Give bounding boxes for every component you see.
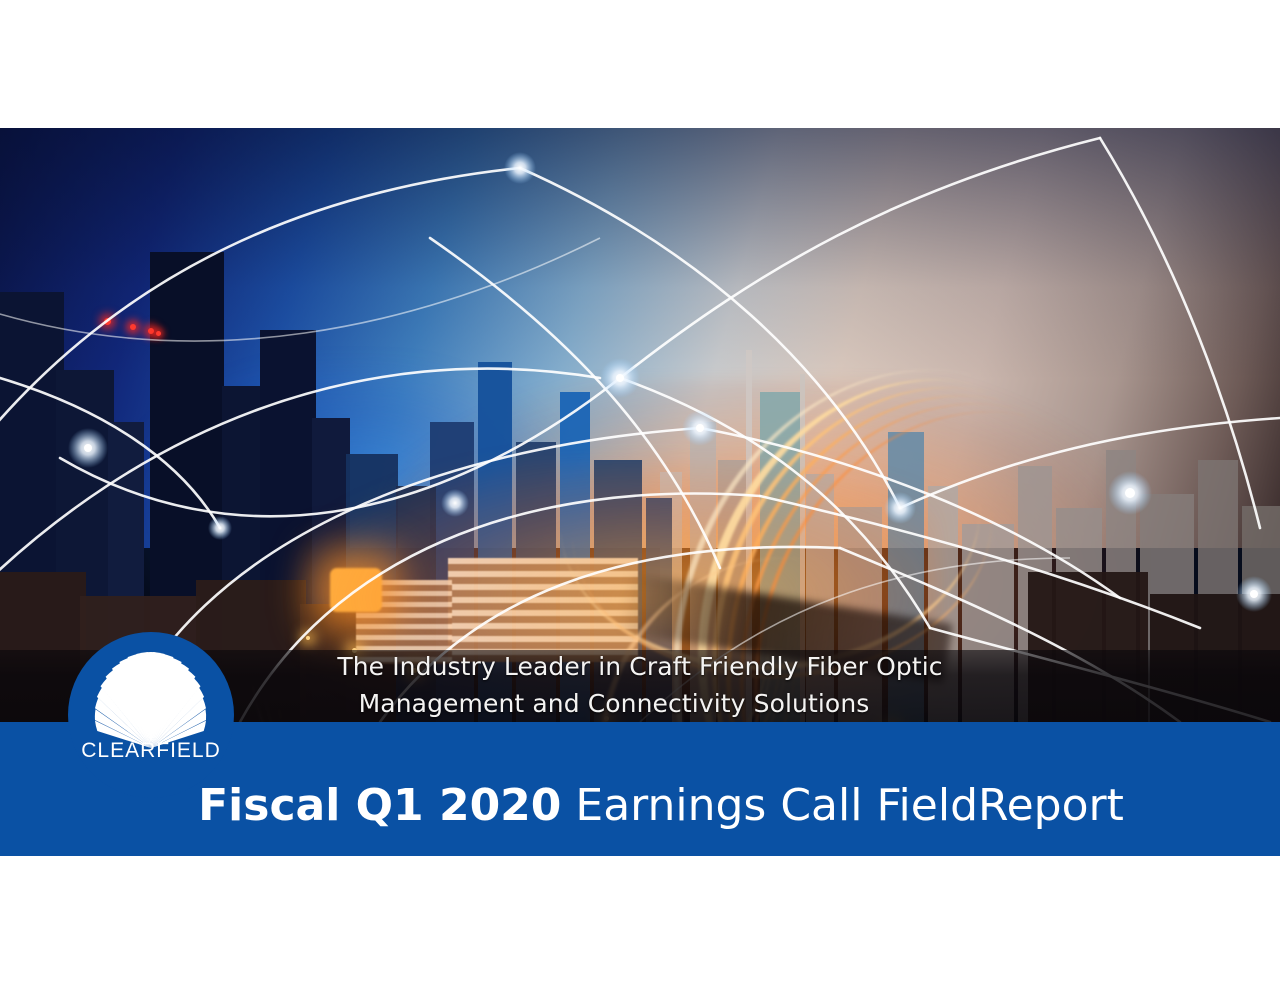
tagline-line-1: The Industry Leader in Craft Friendly Fi… xyxy=(337,648,942,685)
page-title-emphasis: Fiscal Q1 2020 xyxy=(198,780,561,831)
clearfield-fan-shell-icon xyxy=(92,644,210,748)
logo-wordmark: CLEARFIELD xyxy=(68,739,234,763)
page-title-rest: Earnings Call FieldReport xyxy=(561,780,1123,831)
clearfield-logo: CLEARFIELD xyxy=(68,632,234,798)
presentation-slide: The Industry Leader in Craft Friendly Fi… xyxy=(0,0,1280,989)
tagline-line-2: Management and Connectivity Solutions xyxy=(337,685,942,722)
